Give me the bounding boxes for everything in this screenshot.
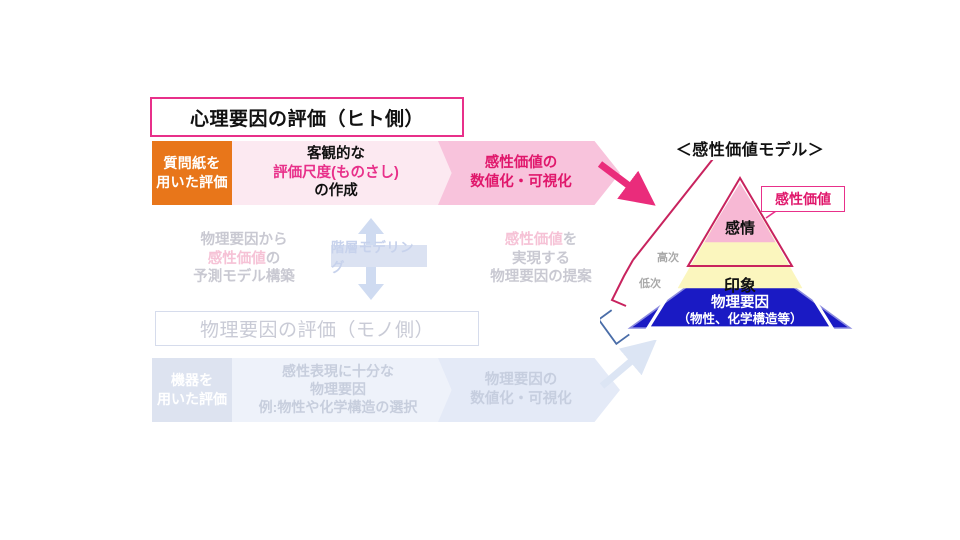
kansei-quantification-line2: 数値化・可視化 — [470, 173, 572, 192]
prediction-model-text: 物理要因から 感性価値の 予測モデル構築 — [166, 228, 322, 290]
proposal-line3: 物理要因の提案 — [490, 268, 592, 287]
kansei-bracket — [612, 260, 633, 306]
objective-scale-line3: の作成 — [314, 182, 358, 201]
physical-quantification-chevron: 物理要因の 数値化・可視化 — [438, 358, 620, 422]
human-side-title: 心理要因の評価（ヒト側） — [150, 97, 464, 137]
physical-factor-selection-block: 感性表現に十分な 物理要因 例:物性や化学構造の選択 — [232, 358, 444, 422]
selection-line2: 物理要因 — [310, 381, 366, 399]
prediction-model-line3: 予測モデル構築 — [193, 268, 295, 287]
instrument-evaluation-block: 機器を 用いた評価 — [152, 358, 232, 422]
kansei-quantification-line1: 感性価値の — [485, 154, 558, 173]
proposal-line1-highlight: 感性価値 — [505, 232, 563, 248]
thing-side-title: 物理要因の評価（モノ側） — [155, 311, 479, 346]
physical-quantification-line2: 数値化・可視化 — [470, 390, 572, 409]
objective-scale-line1: 客観的な — [307, 145, 365, 164]
questionnaire-evaluation-block: 質問紙を 用いた評価 — [152, 141, 232, 205]
proposal-line1-rest: を — [563, 232, 578, 248]
blue-connector-arrow — [596, 340, 666, 395]
prediction-model-line2-highlight: 感性価値 — [208, 251, 266, 267]
instrument-label-line2: 用いた評価 — [157, 390, 227, 409]
slide-canvas: 心理要因の評価（ヒト側） 質問紙を 用いた評価 客観的な 評価尺度(ものさし) … — [0, 0, 960, 540]
questionnaire-label-line2: 用いた評価 — [156, 173, 228, 192]
selection-line1: 感性表現に十分な — [282, 363, 394, 381]
questionnaire-label-line1: 質問紙を — [163, 154, 220, 173]
hierarchical-modeling-text: 階層モデリング — [331, 236, 427, 276]
hierarchical-modeling-label: 階層モデリング — [331, 245, 427, 267]
physical-factor-proposal-text: 感性価値を 実現する 物理要因の提案 — [462, 228, 620, 290]
prediction-model-line1: 物理要因から — [201, 231, 288, 250]
thing-process-row: 機器を 用いた評価 感性表現に十分な 物理要因 例:物性や化学構造の選択 物理要… — [152, 358, 620, 422]
thing-side-title-text: 物理要因の評価（モノ側） — [200, 315, 434, 342]
objective-scale-line2: 評価尺度(ものさし) — [273, 164, 399, 183]
human-process-row: 質問紙を 用いた評価 客観的な 評価尺度(ものさし) の作成 感性価値の 数値化… — [152, 141, 620, 205]
prediction-model-line2-rest: の — [266, 251, 281, 267]
physical-bracket — [600, 310, 629, 344]
selection-line3: 例:物性や化学構造の選択 — [259, 399, 418, 417]
physical-quantification-line1: 物理要因の — [485, 371, 558, 390]
model-heading: ＜感性価値モデル＞ — [655, 136, 845, 160]
kansei-value-callout: 感性価値 — [761, 186, 845, 212]
instrument-label-line1: 機器を — [171, 371, 213, 390]
prediction-model-line2: 感性価値の — [208, 250, 281, 269]
proposal-line2: 実現する — [512, 250, 570, 269]
model-heading-text: ＜感性価値モデル＞ — [676, 136, 825, 160]
objective-scale-block: 客観的な 評価尺度(ものさし) の作成 — [236, 141, 436, 205]
kansei-value-callout-text: 感性価値 — [775, 189, 831, 209]
proposal-line1: 感性価値を — [505, 231, 578, 250]
human-side-title-text: 心理要因の評価（ヒト側） — [190, 104, 424, 131]
